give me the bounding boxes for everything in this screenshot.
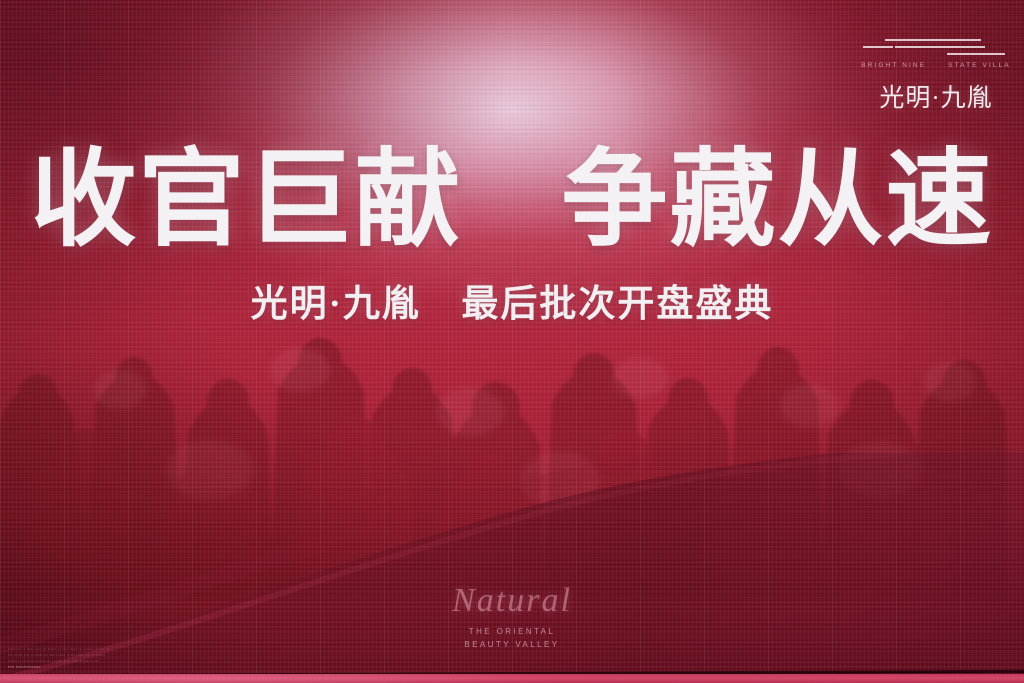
subbrand-tagline-line-1: THE ORIENTAL [0, 625, 1024, 638]
screen-bottom-edge-strip [0, 674, 1024, 683]
brand-chinese-name: 光明·九胤 [860, 78, 1012, 114]
headline-part-1: 收官巨献 [31, 142, 463, 259]
fine-print-disclaimer: ▪▪▪▪▪ ▪▪▪ ▪▪ ▪▪▪▪▪ ▪▪▪▪ ▪▪▪ ▪▪▪▪▪▪ ▪▪ ▪▪… [8, 646, 268, 671]
subtitle-event: 最后批次开盘盛典 [461, 284, 773, 325]
headline-part-2: 争藏从速 [562, 142, 994, 259]
fine-print-line: ▪▪▪▪ ▪▪▪▪▪▪▪▪▪▪▪▪▪▪▪ [8, 664, 268, 671]
headline: 收官巨献 争藏从速 [0, 148, 1024, 254]
brand-english-right: STATE VILLA [948, 62, 1011, 69]
subbrand-script-wordmark: Natural [0, 584, 1024, 618]
staggered-lines-mark-icon [863, 34, 1009, 58]
brand-logo: BRIGHT NINE STATE VILLA 光明·九胤 [860, 34, 1012, 114]
subtitle-project: 光明·九胤 [251, 284, 421, 325]
crowd-highlights [0, 320, 1024, 570]
led-backdrop-photo: 收官巨献 争藏从速 光明·九胤 最后批次开盘盛典 BRIGHT NINE STA… [0, 0, 1024, 683]
brand-english-taglines: BRIGHT NINE STATE VILLA [860, 62, 1012, 69]
crowd-silhouettes [0, 300, 1024, 600]
subbrand-logo: Natural THE ORIENTAL BEAUTY VALLEY [0, 584, 1024, 651]
subtitle: 光明·九胤 最后批次开盘盛典 [0, 286, 1024, 323]
brand-english-left: BRIGHT NINE [861, 62, 926, 69]
